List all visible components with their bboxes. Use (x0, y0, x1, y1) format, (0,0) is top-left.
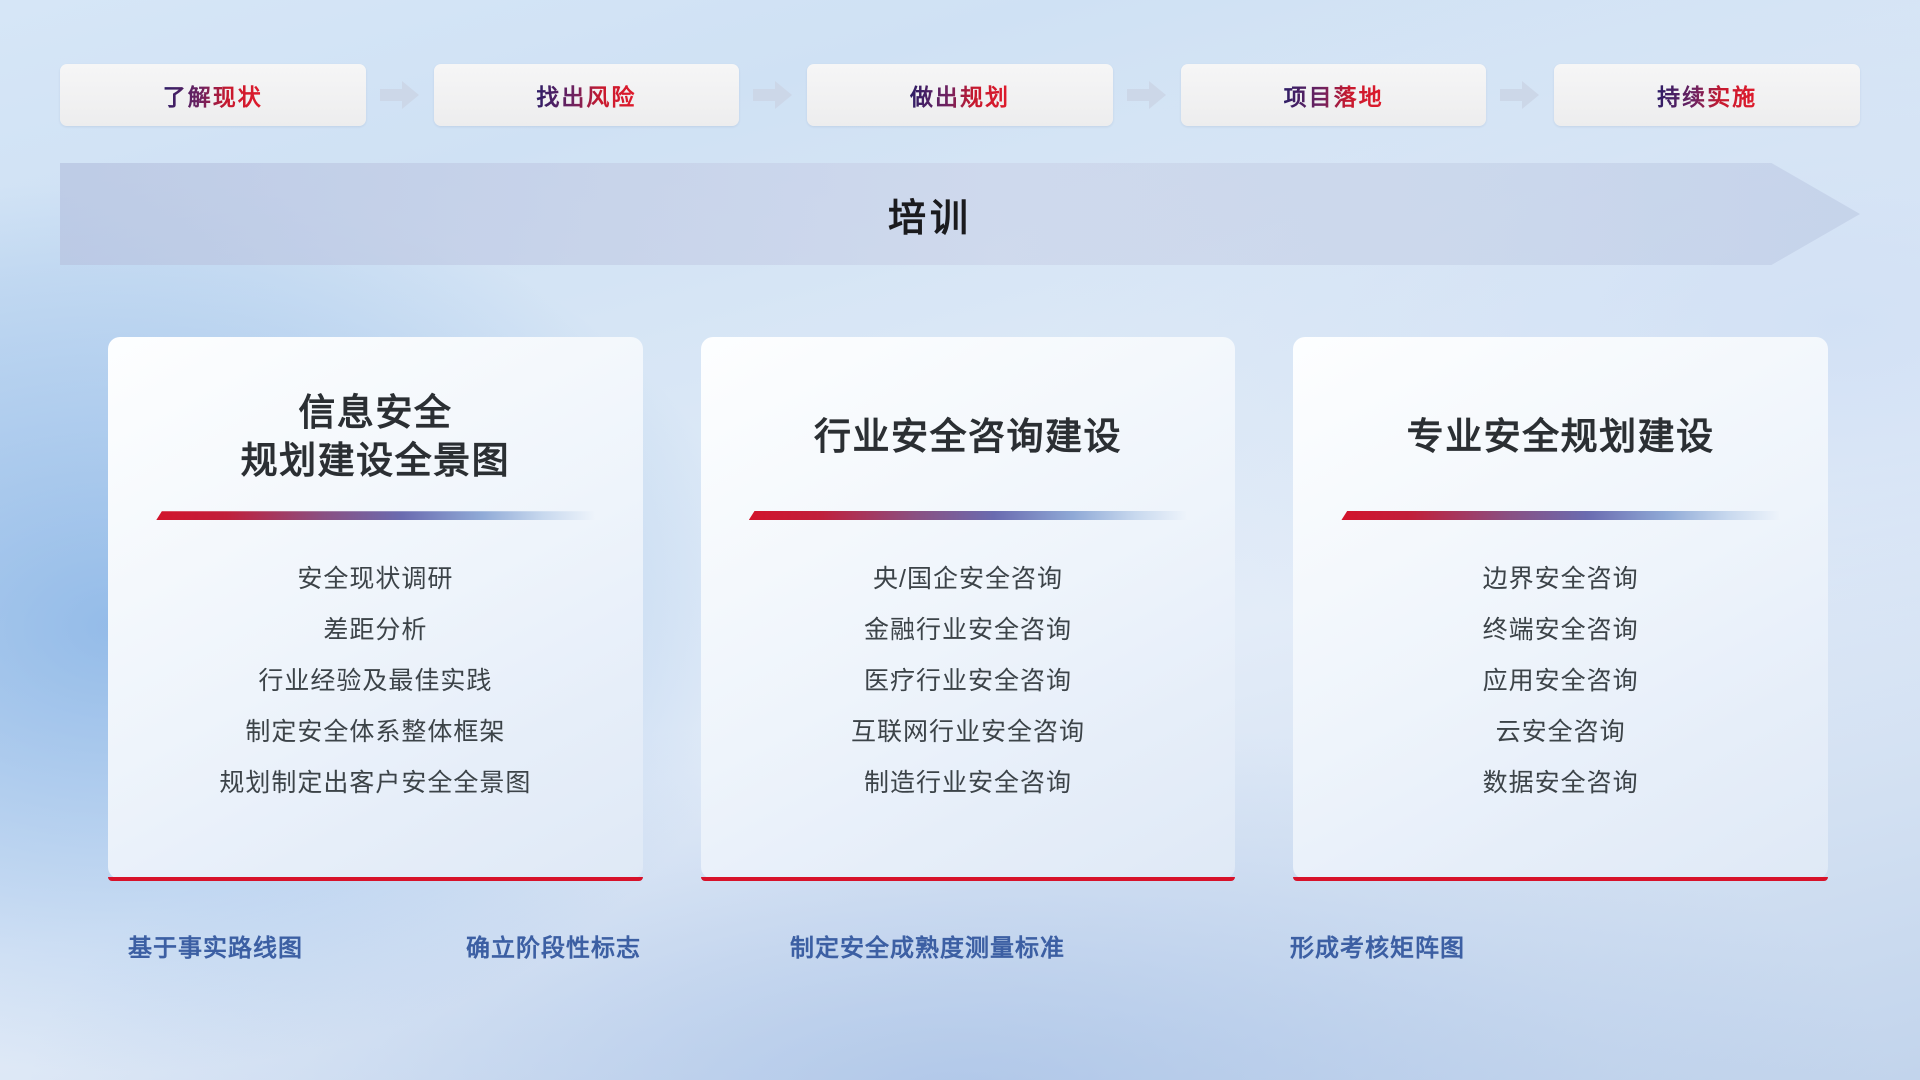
card-divider (749, 511, 1187, 520)
process-step-5[interactable]: 持续实施 (1554, 64, 1860, 126)
list-item[interactable]: 金融行业安全咨询 (701, 605, 1236, 656)
list-item[interactable]: 数据安全咨询 (1293, 758, 1828, 809)
bottom-captions: 基于事实路线图确立阶段性标志制定安全成熟度测量标准形成考核矩阵图 (0, 928, 1920, 976)
card-title: 信息安全规划建设全景图 (241, 389, 511, 485)
card-divider (1341, 511, 1779, 520)
list-item[interactable]: 终端安全咨询 (1293, 605, 1828, 656)
bottom-caption-4: 形成考核矩阵图 (1290, 928, 1465, 963)
process-step-1[interactable]: 了解现状 (60, 64, 366, 126)
arrow-right-icon (739, 75, 807, 115)
list-item[interactable]: 互联网行业安全咨询 (701, 707, 1236, 758)
list-item[interactable]: 安全现状调研 (108, 554, 643, 605)
process-step-label: 持续实施 (1657, 78, 1757, 112)
list-item[interactable]: 边界安全咨询 (1293, 554, 1828, 605)
list-item[interactable]: 规划制定出客户安全全景图 (108, 758, 643, 809)
list-item[interactable]: 医疗行业安全咨询 (701, 656, 1236, 707)
card-divider-bar (749, 511, 1187, 520)
card-title-line: 专业安全规划建设 (1407, 413, 1715, 461)
arrow-right-icon (366, 75, 434, 115)
card-divider (156, 511, 594, 520)
list-item[interactable]: 云安全咨询 (1293, 707, 1828, 758)
card-title: 专业安全规划建设 (1407, 389, 1715, 485)
process-step-label: 项目落地 (1284, 78, 1384, 112)
card-list: 央/国企安全咨询金融行业安全咨询医疗行业安全咨询互联网行业安全咨询制造行业安全咨… (701, 554, 1236, 809)
process-step-3[interactable]: 做出规划 (807, 64, 1113, 126)
list-item[interactable]: 行业经验及最佳实践 (108, 656, 643, 707)
process-step-2[interactable]: 找出风险 (434, 64, 740, 126)
card-list: 边界安全咨询终端安全咨询应用安全咨询云安全咨询数据安全咨询 (1293, 554, 1828, 809)
card-title-line: 行业安全咨询建设 (814, 413, 1122, 461)
arrow-right-icon (1486, 75, 1554, 115)
bottom-caption-1: 基于事实路线图 (128, 928, 303, 963)
training-banner: 培训 (60, 163, 1860, 265)
panel-card-2[interactable]: 行业安全咨询建设央/国企安全咨询金融行业安全咨询医疗行业安全咨询互联网行业安全咨… (701, 337, 1236, 879)
cards-row: 信息安全规划建设全景图安全现状调研差距分析行业经验及最佳实践制定安全体系整体框架… (108, 337, 1828, 879)
bottom-caption-3: 制定安全成熟度测量标准 (790, 928, 1065, 963)
banner-label: 培训 (60, 163, 1800, 265)
list-item[interactable]: 制造行业安全咨询 (701, 758, 1236, 809)
slide-canvas: 了解现状找出风险做出规划项目落地持续实施 培训 信息安全规划建设全景图安全现状调… (0, 0, 1920, 1080)
list-item[interactable]: 制定安全体系整体框架 (108, 707, 643, 758)
process-step-label: 了解现状 (163, 78, 263, 112)
list-item[interactable]: 差距分析 (108, 605, 643, 656)
card-divider-bar (1341, 511, 1779, 520)
panel-card-1[interactable]: 信息安全规划建设全景图安全现状调研差距分析行业经验及最佳实践制定安全体系整体框架… (108, 337, 643, 879)
list-item[interactable]: 央/国企安全咨询 (701, 554, 1236, 605)
card-title-line: 规划建设全景图 (241, 437, 511, 485)
card-divider-bar (156, 511, 594, 520)
card-list: 安全现状调研差距分析行业经验及最佳实践制定安全体系整体框架规划制定出客户安全全景… (108, 554, 643, 809)
card-title: 行业安全咨询建设 (814, 389, 1122, 485)
card-title-line: 信息安全 (241, 389, 511, 437)
panel-card-3[interactable]: 专业安全规划建设边界安全咨询终端安全咨询应用安全咨询云安全咨询数据安全咨询 (1293, 337, 1828, 879)
bottom-caption-2: 确立阶段性标志 (466, 928, 641, 963)
process-step-label: 找出风险 (536, 78, 636, 112)
process-flow: 了解现状找出风险做出规划项目落地持续实施 (60, 64, 1860, 126)
process-step-label: 做出规划 (910, 78, 1010, 112)
arrow-right-icon (1113, 75, 1181, 115)
process-step-4[interactable]: 项目落地 (1181, 64, 1487, 126)
list-item[interactable]: 应用安全咨询 (1293, 656, 1828, 707)
